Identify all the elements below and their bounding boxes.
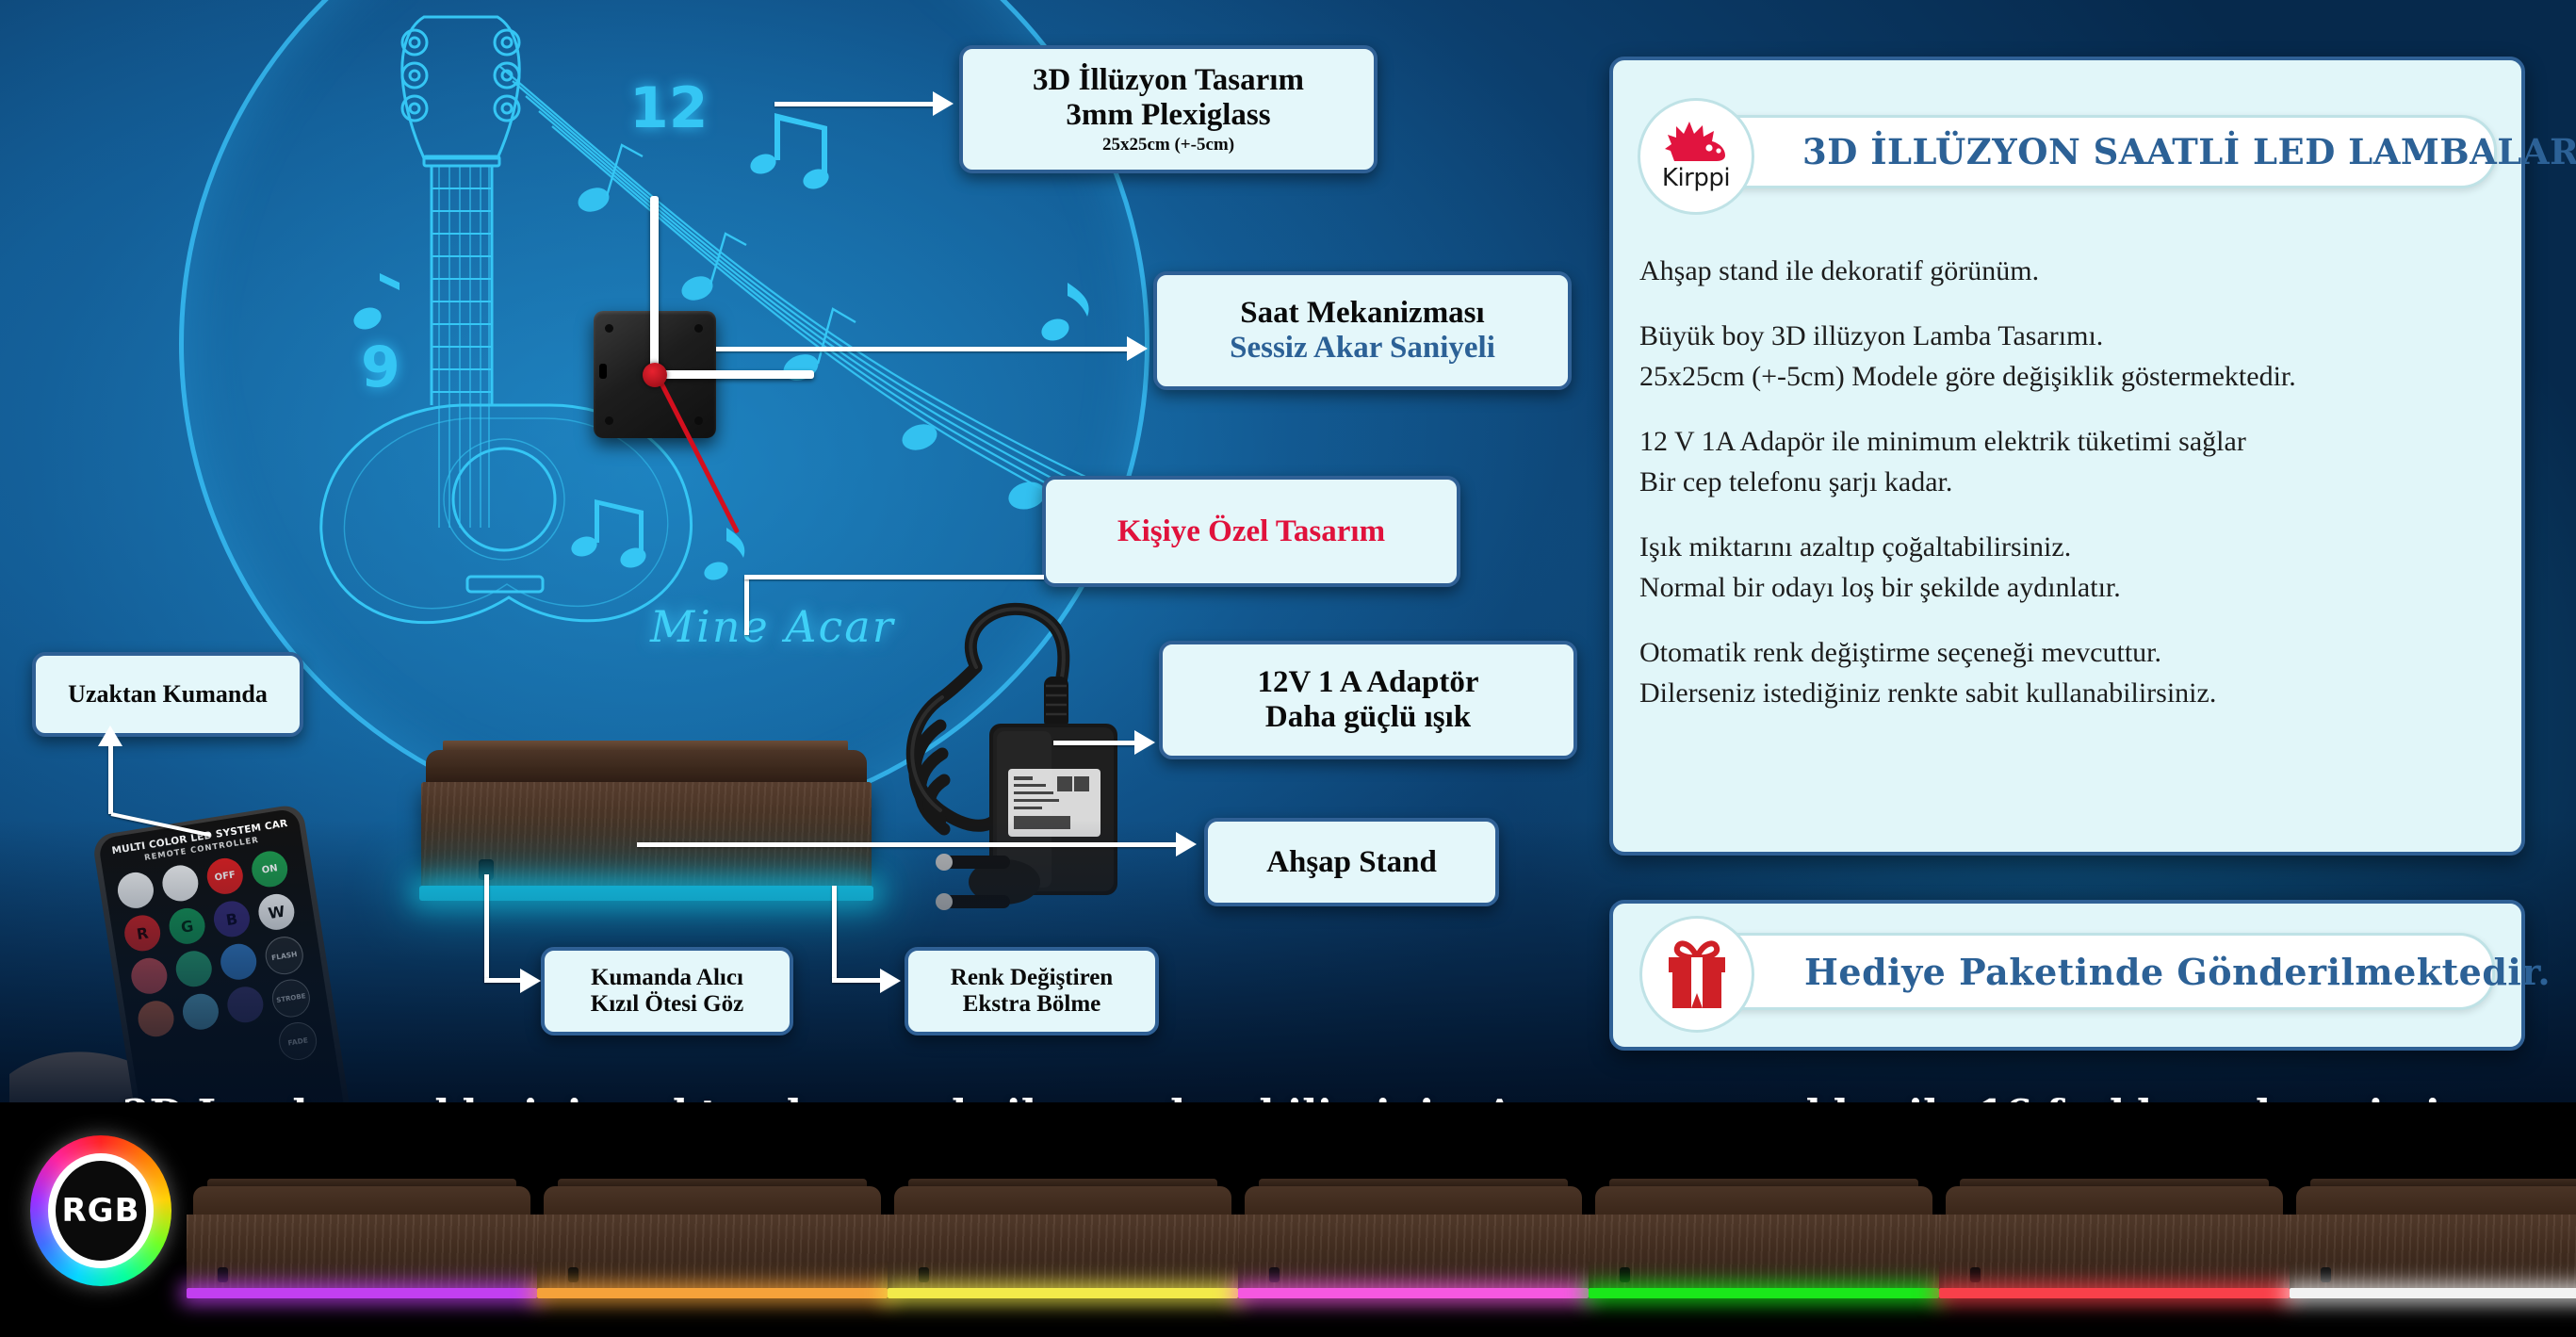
rgb-badge-label: RGB — [61, 1192, 139, 1230]
clock-pivot — [643, 363, 667, 387]
panel-paragraph-9: Dilerseniz istediğiniz renkte sabit kull… — [1639, 675, 2487, 711]
swatch-led-1 — [187, 1288, 537, 1298]
swatch-stand-4 — [1238, 1179, 1589, 1301]
callout-design: 3D İllüzyon Tasarım 3mm Plexiglass 25x25… — [959, 45, 1378, 173]
info-panel-header-text: 3D İLLÜZYON SAATLİ LED LAMBALAR — [1802, 131, 2576, 172]
swatch-stand-2 — [537, 1179, 888, 1301]
swatch-stand-3 — [888, 1179, 1238, 1301]
leader-custom-v — [744, 579, 749, 635]
hedgehog-icon — [1665, 122, 1727, 163]
gift-banner-pill: Hediye Paketinde Gönderilmektedir. — [1696, 933, 2495, 1010]
panel-paragraph-3: 25x25cm (+-5cm) Modele göre değişiklik g… — [1639, 358, 2487, 395]
callout-stand-line1: Ahşap Stand — [1266, 845, 1437, 880]
clock-minute-hand — [650, 196, 659, 377]
arrowhead-stand — [1176, 832, 1197, 856]
arrowhead-receiver — [520, 969, 541, 993]
panel-paragraph-7: Normal bir odayı loş bir şekilde aydınla… — [1639, 569, 2487, 606]
gift-icon-wrap — [1639, 916, 1754, 1033]
callout-adapter: 12V 1 A Adaptör Daha güçlü ışık — [1159, 641, 1577, 759]
leader-colorbay-v — [832, 886, 837, 980]
arrowhead-colorbay — [880, 969, 901, 993]
panel-paragraph-4: 12 V 1A Adapör ile minimum elektrik tüke… — [1639, 423, 2487, 460]
leader-receiver-h — [484, 978, 524, 983]
panel-paragraph-5: Bir cep telefonu şarjı kadar. — [1639, 464, 2487, 500]
leader-receiver-v — [484, 874, 489, 980]
callout-design-line1: 3D İllüzyon Tasarım — [1033, 63, 1304, 98]
swatch-led-2 — [537, 1288, 888, 1298]
swatch-stand-5 — [1589, 1179, 1939, 1301]
callout-receiver: Kumanda Alıcı Kızıl Ötesi Göz — [541, 947, 793, 1035]
leader-adapter — [1053, 741, 1136, 745]
callout-design-line3: 25x25cm (+-5cm) — [1102, 135, 1234, 155]
infographic-stage: 12 9 — [0, 0, 2576, 1337]
panel-paragraph-6: Işık miktarını azaltıp çoğaltabilirsiniz… — [1639, 529, 2487, 565]
panel-paragraph-1: Ahşap stand ile dekoratif görünüm. — [1639, 253, 2487, 289]
callout-colorbay: Renk Değiştiren Ekstra Bölme — [905, 947, 1159, 1035]
callout-receiver-line1: Kumanda Alıcı — [591, 965, 743, 991]
callout-clock-line1: Saat Mekanizması — [1240, 296, 1484, 331]
leader-custom-h — [744, 575, 1044, 579]
leader-clock — [716, 347, 1129, 351]
callout-custom: Kişiye Özel Tasarım — [1042, 476, 1460, 587]
swatch-led-7 — [2290, 1288, 2576, 1298]
swatch-led-4 — [1238, 1288, 1589, 1298]
arrowhead-remote — [98, 726, 122, 746]
arrowhead-design — [933, 91, 954, 116]
swatch-led-5 — [1589, 1288, 1939, 1298]
callout-adapter-line1: 12V 1 A Adaptör — [1257, 665, 1478, 700]
arrowhead-clock — [1127, 336, 1148, 361]
panel-paragraph-8: Otomatik renk değiştirme seçeneği mevcut… — [1639, 634, 2487, 671]
swatch-stand-1 — [187, 1179, 537, 1301]
stand-cap — [426, 750, 867, 784]
swatch-stand-6 — [1939, 1179, 2290, 1301]
clock-hour-hand — [654, 370, 814, 379]
leader-colorbay-h — [832, 978, 883, 983]
info-panel-body: Ahşap stand ile dekoratif görünüm. Büyük… — [1639, 253, 2487, 715]
callout-custom-line1: Kişiye Özel Tasarım — [1117, 514, 1385, 549]
leader-stand — [637, 842, 1178, 847]
swatch-led-6 — [1939, 1288, 2290, 1298]
arrowhead-adapter — [1134, 730, 1155, 755]
callout-design-line2: 3mm Plexiglass — [1066, 98, 1270, 133]
color-swatch-strip: RGB — [0, 1102, 2576, 1337]
rgb-badge: RGB — [30, 1135, 171, 1286]
swatch-led-3 — [888, 1288, 1238, 1298]
callout-remote: Uzaktan Kumanda — [32, 652, 303, 737]
leader-design — [774, 102, 935, 106]
callout-colorbay-line2: Ekstra Bölme — [963, 991, 1101, 1018]
callout-clock-line2: Sessiz Akar Saniyeli — [1230, 331, 1495, 366]
info-panel-header: 3D İLLÜZYON SAATLİ LED LAMBALAR — [1696, 115, 2497, 188]
callout-adapter-line2: Daha güçlü ışık — [1265, 700, 1471, 735]
brand-logo: Kirppi — [1638, 98, 1754, 215]
callout-clock: Saat Mekanizması Sessiz Akar Saniyeli — [1153, 271, 1572, 390]
swatch-stand-7 — [2290, 1179, 2576, 1301]
callout-stand: Ahşap Stand — [1204, 818, 1499, 906]
callout-remote-line1: Uzaktan Kumanda — [68, 680, 268, 708]
callout-colorbay-line1: Renk Değiştiren — [951, 965, 1113, 991]
gift-banner-text: Hediye Paketinde Gönderilmektedir. — [1804, 951, 2551, 993]
leader-remote-v — [108, 739, 113, 814]
artist-signature: Mine Acar — [650, 601, 895, 652]
callout-receiver-line2: Kızıl Ötesi Göz — [591, 991, 743, 1018]
gift-box-icon — [1666, 938, 1728, 1010]
brand-logo-text: Kirppi — [1662, 164, 1730, 192]
panel-paragraph-2: Büyük boy 3D illüzyon Lamba Tasarımı. — [1639, 318, 2487, 354]
